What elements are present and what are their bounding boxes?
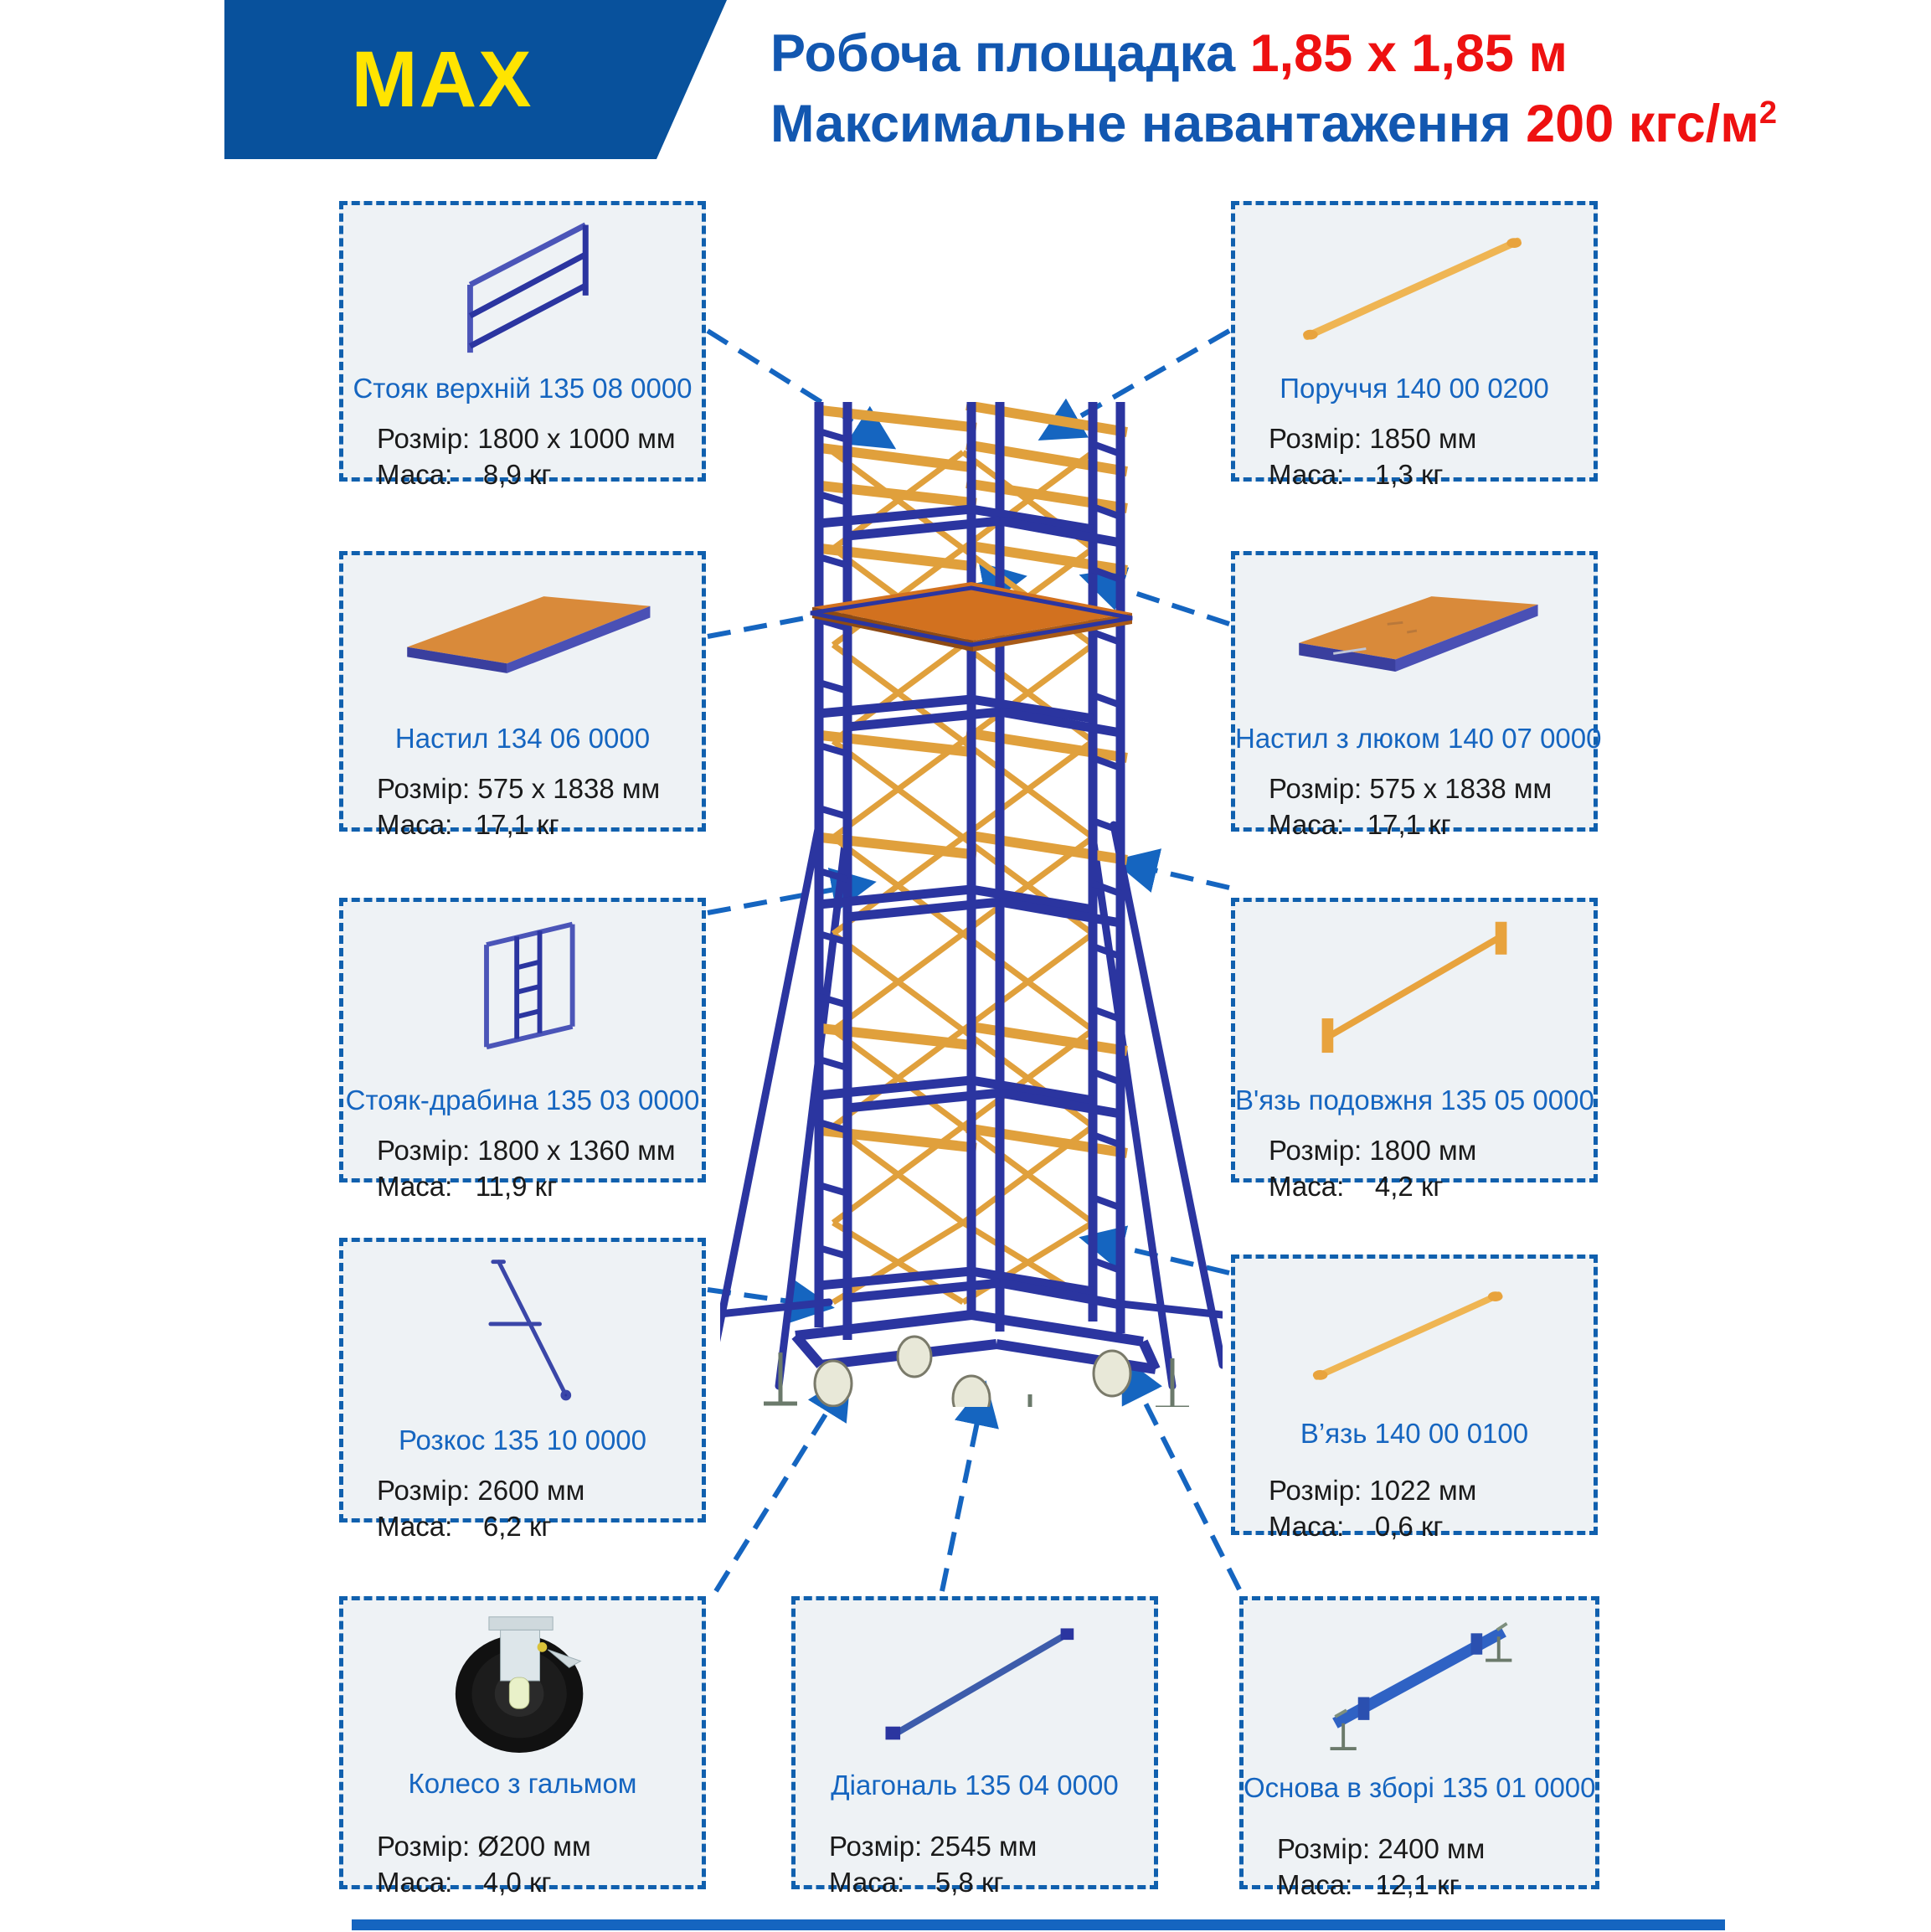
spec-working-platform-value: 1,85 х 1,85 м bbox=[1250, 24, 1568, 83]
spec-max-load-label: Максимальне навантаження bbox=[770, 95, 1526, 153]
part-size: Розмір: 1022 мм bbox=[1269, 1475, 1476, 1507]
page-header: MAX Робоча площадка 1,85 х 1,85 м Максим… bbox=[0, 0, 1931, 176]
part-mass: Маса: 1,3 кг bbox=[1269, 459, 1443, 491]
caster-wheel-icon bbox=[343, 1600, 702, 1759]
part-mass: Маса: 17,1 кг bbox=[377, 809, 559, 841]
spec-max-load-superscript: 2 bbox=[1759, 95, 1777, 131]
brand-logo-text: MAX bbox=[224, 0, 660, 159]
part-size: Розмір: 2545 мм bbox=[829, 1831, 1037, 1862]
part-size: Розмір: 1800 х 1360 мм bbox=[377, 1135, 676, 1167]
spec-max-load: Максимальне навантаження 200 кгс/м2 bbox=[770, 94, 1777, 154]
part-card-diagonal[interactable]: Діагональ 135 04 0000 Розмір: 2545 мм Ма… bbox=[791, 1596, 1158, 1889]
diagonal-blue-icon bbox=[796, 1600, 1154, 1759]
part-title: В'язь подовжня 135 05 0000 bbox=[1235, 1084, 1594, 1116]
rod-orange-icon bbox=[1235, 205, 1594, 364]
deck-hatch-icon bbox=[1235, 555, 1594, 714]
part-mass: Маса: 4,0 кг bbox=[377, 1867, 551, 1899]
part-card-nastyl[interactable]: Настил 134 06 0000 Розмір: 575 х 1838 мм… bbox=[339, 551, 706, 832]
base-assembly-icon bbox=[1244, 1600, 1595, 1759]
part-title: Поруччя 140 00 0200 bbox=[1235, 373, 1594, 404]
deck-plain-icon bbox=[343, 555, 702, 714]
part-title: Настил 134 06 0000 bbox=[343, 723, 702, 755]
part-size: Розмір: 1850 мм bbox=[1269, 423, 1476, 455]
part-card-nastyl-z-lyukom[interactable]: Настил з люком 140 07 0000 Розмір: 575 х… bbox=[1231, 551, 1598, 832]
part-card-vyaz-podovzhnya[interactable]: В'язь подовжня 135 05 0000 Розмір: 1800 … bbox=[1231, 898, 1598, 1182]
part-title: Стояк верхній 135 08 0000 bbox=[343, 373, 702, 404]
part-title: Стояк-драбина 135 03 0000 bbox=[343, 1084, 702, 1116]
guardrail-frame-icon bbox=[343, 205, 702, 364]
part-title: Розкос 135 10 0000 bbox=[343, 1425, 702, 1456]
part-size: Розмір: Ø200 мм bbox=[377, 1831, 591, 1862]
part-mass: Маса: 6,2 кг bbox=[377, 1511, 551, 1543]
part-mass: Маса: 12,1 кг bbox=[1277, 1869, 1460, 1901]
part-mass: Маса: 4,2 кг bbox=[1269, 1171, 1443, 1203]
part-size: Розмір: 2400 мм bbox=[1277, 1833, 1485, 1865]
part-card-koleso[interactable]: Колесо з гальмом Розмір: Ø200 мм Маса: 4… bbox=[339, 1596, 706, 1889]
part-mass: Маса: 0,6 кг bbox=[1269, 1511, 1443, 1543]
ladder-frame-icon bbox=[343, 902, 702, 1065]
part-mass: Маса: 17,1 кг bbox=[1269, 809, 1451, 841]
part-mass: Маса: 11,9 кг bbox=[377, 1171, 557, 1203]
spec-max-load-value: 200 кгс/м bbox=[1526, 95, 1759, 153]
outrigger-icon bbox=[343, 1242, 702, 1405]
part-card-stoyak-verhniy[interactable]: Стояк верхній 135 08 0000 Розмір: 1800 х… bbox=[339, 201, 706, 482]
part-card-poruchchya[interactable]: Поруччя 140 00 0200 Розмір: 1850 мм Маса… bbox=[1231, 201, 1598, 482]
part-size: Розмір: 2600 мм bbox=[377, 1475, 584, 1507]
tower-diagonal-braces bbox=[833, 452, 1093, 1302]
part-card-stoyak-drabyna[interactable]: Стояк-драбина 135 03 0000 Розмір: 1800 х… bbox=[339, 898, 706, 1182]
brand-banner: MAX bbox=[224, 0, 727, 159]
part-title: Основа в зборі 135 01 0000 bbox=[1244, 1772, 1595, 1804]
part-card-vyaz[interactable]: В’язь 140 00 0100 Розмір: 1022 мм Маса: … bbox=[1231, 1255, 1598, 1535]
part-card-osnova[interactable]: Основа в зборі 135 01 0000 Розмір: 2400 … bbox=[1239, 1596, 1599, 1889]
scaffold-tower-illustration bbox=[720, 402, 1223, 1407]
brace-long-orange-icon bbox=[1235, 902, 1594, 1065]
part-title: В’язь 140 00 0100 bbox=[1235, 1418, 1594, 1450]
part-title: Настил з люком 140 07 0000 bbox=[1235, 723, 1594, 755]
part-size: Розмір: 575 х 1838 мм bbox=[1269, 773, 1552, 805]
part-title: Колесо з гальмом bbox=[343, 1768, 702, 1800]
spec-working-platform-label: Робоча площадка bbox=[770, 24, 1250, 83]
part-size: Розмір: 575 х 1838 мм bbox=[377, 773, 660, 805]
part-mass: Маса: 8,9 кг bbox=[377, 459, 551, 491]
part-mass: Маса: 5,8 кг bbox=[829, 1867, 1003, 1899]
part-title: Діагональ 135 04 0000 bbox=[796, 1770, 1154, 1801]
part-card-rozkos[interactable]: Розкос 135 10 0000 Розмір: 2600 мм Маса:… bbox=[339, 1238, 706, 1522]
part-size: Розмір: 1800 мм bbox=[1269, 1135, 1476, 1167]
footer-rule bbox=[352, 1919, 1725, 1930]
part-size: Розмір: 1800 х 1000 мм bbox=[377, 423, 676, 455]
spec-working-platform: Робоча площадка 1,85 х 1,85 м bbox=[770, 23, 1568, 84]
rod-orange-short-icon bbox=[1235, 1259, 1594, 1414]
